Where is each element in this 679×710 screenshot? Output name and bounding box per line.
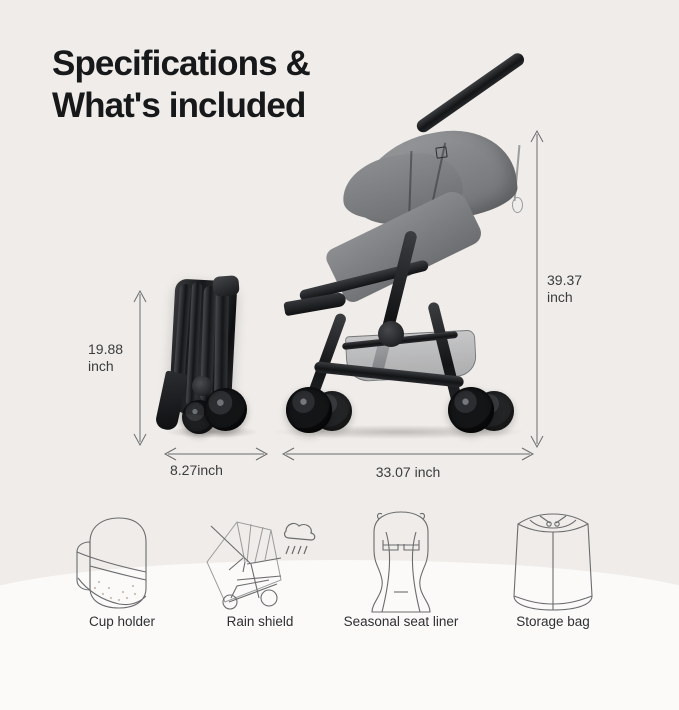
folded-height-dimension-line xyxy=(130,288,150,448)
accessory-rain-shield: Rain shield xyxy=(185,506,335,629)
open-height-label: 39.37 inch xyxy=(547,272,582,306)
rain-shield-icon xyxy=(185,506,335,614)
folded-width-label: 8.27inch xyxy=(170,462,290,479)
open-stroller xyxy=(268,125,533,455)
frame-joint xyxy=(378,321,404,347)
folded-wheel xyxy=(204,388,247,431)
brand-badge-icon xyxy=(435,146,447,158)
accessory-storage-bag: Storage bag xyxy=(478,506,628,629)
included-accessories-section: Cup holder xyxy=(0,500,679,679)
title-line-1: Specifications & xyxy=(52,43,472,85)
infographic-page: Specifications & What's included xyxy=(0,0,679,679)
folded-width-dimension-line xyxy=(162,446,270,462)
open-height-dimension-line xyxy=(527,128,547,450)
open-length-label: 33.07 inch xyxy=(280,464,536,481)
front-wheel xyxy=(286,387,332,433)
folded-height-label: 19.88 inch xyxy=(88,341,123,375)
folded-stroller xyxy=(158,280,258,445)
accessory-cup-holder: Cup holder xyxy=(47,506,197,629)
folded-hinge xyxy=(192,376,212,396)
storage-bag-icon xyxy=(478,506,628,614)
cup-holder-icon xyxy=(47,506,197,614)
accessory-label: Storage bag xyxy=(478,614,628,629)
accessory-seat-liner: Seasonal seat liner xyxy=(326,506,476,629)
page-title: Specifications & What's included xyxy=(52,43,472,127)
accessory-label: Cup holder xyxy=(47,614,197,629)
folded-handle xyxy=(212,275,239,297)
accessory-label: Seasonal seat liner xyxy=(326,614,476,629)
product-stage xyxy=(0,120,679,500)
open-length-dimension-line xyxy=(280,446,536,462)
wrist-strap-loop xyxy=(512,197,523,213)
accessory-label: Rain shield xyxy=(185,614,335,629)
seat-liner-icon xyxy=(326,506,476,614)
rear-wheel xyxy=(448,387,494,433)
